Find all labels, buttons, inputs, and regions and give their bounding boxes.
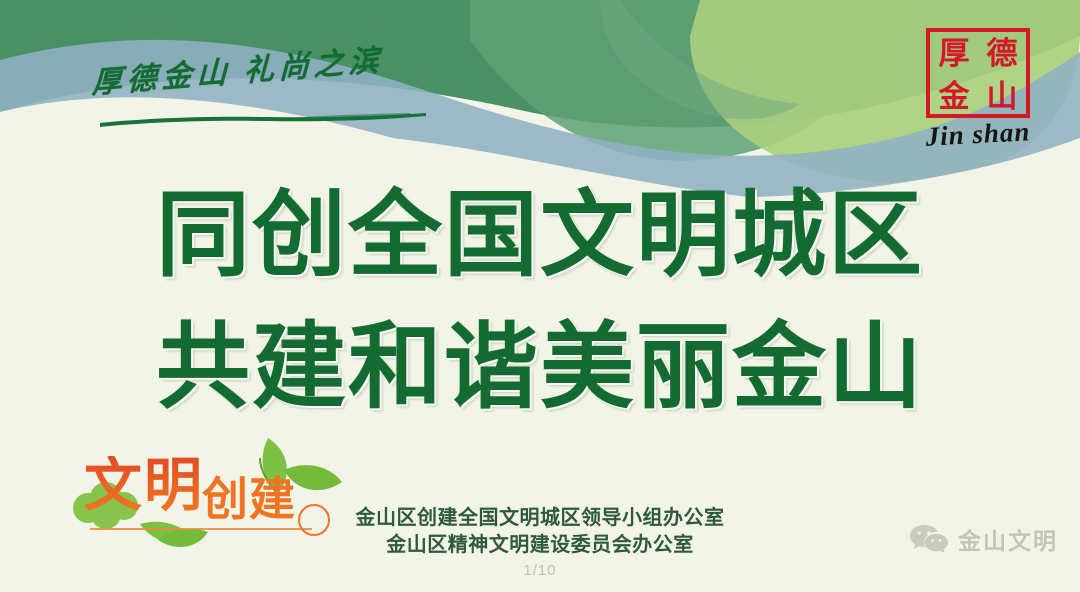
headline-line-1: 同创全国文明城区 (0, 186, 1080, 286)
poster-canvas: 厚德金山 礼尚之滨 厚 德 金 山 Jin shan 同创全国文明城区 共建和谐… (0, 0, 1080, 592)
wechat-icon (909, 523, 949, 555)
issuer-line-2: 金山区精神文明建设委员会办公室 (330, 531, 750, 558)
wechat-label: 金山文明 (958, 522, 1058, 556)
seal-char-1: 厚 (930, 32, 978, 75)
emblem-circle-accent (298, 504, 330, 536)
brush-stroke-icon (98, 112, 428, 128)
wechat-watermark: 金山文明 (909, 522, 1058, 556)
leaf-left-icon (140, 522, 208, 547)
page-indicator: 1/10 (0, 562, 1080, 579)
seal-box: 厚 德 金 山 (926, 28, 1030, 118)
main-headline: 同创全国文明城区 共建和谐美丽金山 (0, 186, 1080, 417)
seal-char-3: 金 (930, 75, 978, 118)
issuer-block: 金山区创建全国文明城区领导小组办公室 金山区精神文明建设委员会办公室 (330, 504, 750, 558)
issuer-line-1: 金山区创建全国文明城区领导小组办公室 (330, 504, 750, 531)
headline-line-2: 共建和谐美丽金山 (0, 318, 1080, 418)
seal-latin-text: Jin shan (913, 116, 1042, 154)
seal-char-2: 德 (978, 32, 1026, 75)
emblem-small-text: 创建 (202, 476, 296, 522)
jinshan-seal-logo: 厚 德 金 山 Jin shan (914, 28, 1042, 150)
calligraphy-slogan: 厚德金山 礼尚之滨 (92, 58, 452, 138)
civility-emblem: 文明 创建 (62, 432, 362, 562)
seal-char-4: 山 (978, 75, 1026, 118)
emblem-underline (90, 528, 312, 530)
emblem-big-text: 文明 (84, 456, 204, 514)
